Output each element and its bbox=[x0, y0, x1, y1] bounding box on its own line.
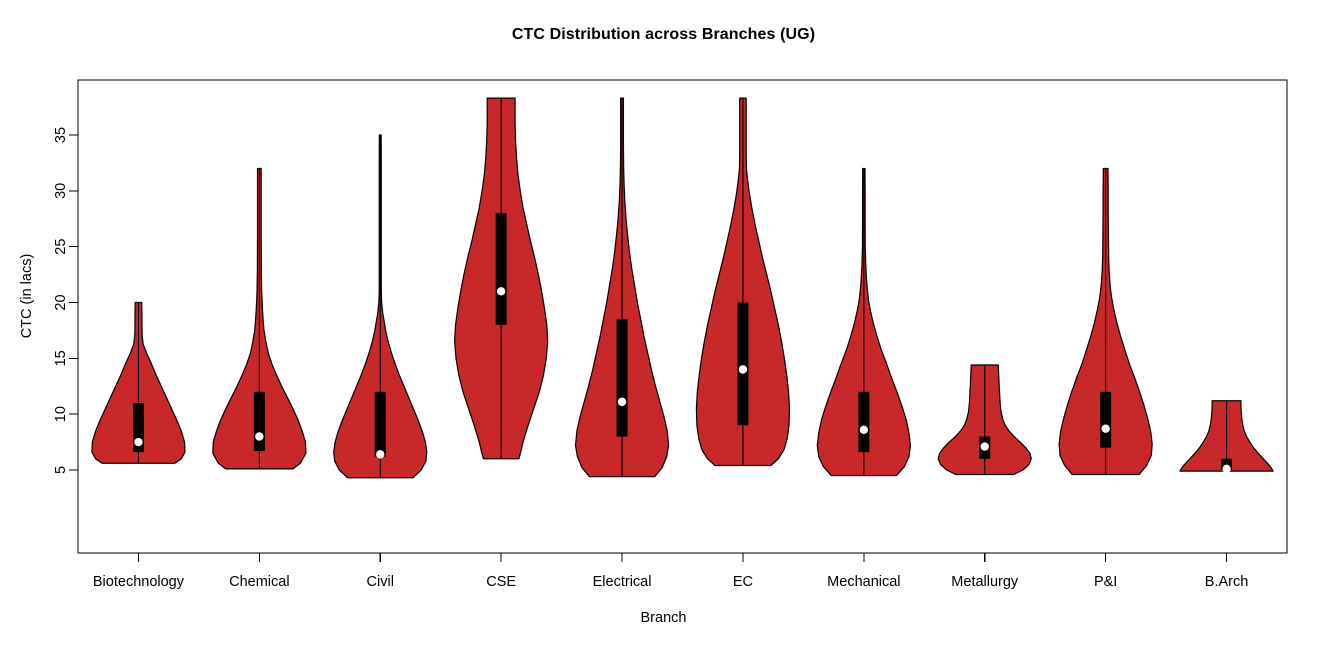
violin-median-marker bbox=[1222, 465, 1230, 473]
y-tick-label: 30 bbox=[53, 183, 69, 199]
y-tick-label: 5 bbox=[53, 466, 69, 474]
violin-median-marker bbox=[376, 450, 384, 458]
violin-median-marker bbox=[618, 398, 626, 406]
violin-electrical[interactable] bbox=[576, 98, 669, 477]
x-tick-label-mechanical: Mechanical bbox=[827, 574, 900, 590]
x-tick-label-civil: Civil bbox=[367, 574, 394, 590]
violin-metallurgy[interactable] bbox=[938, 365, 1031, 474]
violin-cse[interactable] bbox=[455, 98, 548, 459]
x-axis: BiotechnologyChemicalCivilCSEElectricalE… bbox=[93, 553, 1248, 590]
violin-civil[interactable] bbox=[334, 135, 427, 478]
violin-median-marker bbox=[1101, 424, 1109, 432]
y-axis: 5101520253035 bbox=[53, 127, 78, 474]
violin-b-arch[interactable] bbox=[1180, 401, 1273, 473]
violin-ec[interactable] bbox=[696, 98, 789, 465]
y-tick-label: 10 bbox=[53, 406, 69, 422]
violin-mechanical[interactable] bbox=[817, 169, 910, 476]
x-tick-label-b-arch: B.Arch bbox=[1205, 574, 1249, 590]
x-tick-label-metallurgy: Metallurgy bbox=[951, 574, 1019, 590]
violins-layer bbox=[92, 98, 1273, 478]
violin-median-marker bbox=[497, 287, 505, 295]
x-tick-label-chemical: Chemical bbox=[229, 574, 289, 590]
x-tick-label-biotechnology: Biotechnology bbox=[93, 574, 185, 590]
violin-median-marker bbox=[860, 426, 868, 434]
violin-p-i[interactable] bbox=[1059, 169, 1152, 475]
y-tick-label: 25 bbox=[53, 239, 69, 255]
violin-iqr-box bbox=[617, 319, 628, 436]
violin-iqr-box bbox=[1100, 392, 1111, 448]
violin-iqr-box bbox=[858, 392, 869, 452]
y-tick-label: 20 bbox=[53, 294, 69, 310]
x-tick-label-electrical: Electrical bbox=[593, 574, 652, 590]
violin-iqr-box bbox=[254, 392, 265, 451]
x-tick-label-ec: EC bbox=[733, 574, 753, 590]
y-tick-label: 15 bbox=[53, 350, 69, 366]
violin-median-marker bbox=[134, 438, 142, 446]
violin-median-marker bbox=[255, 432, 263, 440]
violin-median-marker bbox=[981, 442, 989, 450]
violin-biotechnology[interactable] bbox=[92, 303, 185, 464]
violin-iqr-box bbox=[496, 213, 507, 325]
violin-chemical[interactable] bbox=[213, 169, 306, 469]
y-tick-label: 35 bbox=[53, 127, 69, 143]
violin-iqr-box bbox=[737, 303, 748, 426]
x-tick-label-p-i: P&I bbox=[1094, 574, 1117, 590]
violin-iqr-box bbox=[375, 392, 386, 457]
x-tick-label-cse: CSE bbox=[486, 574, 516, 590]
violin-plot-figure: CTC Distribution across Branches (UG) CT… bbox=[0, 0, 1327, 653]
violin-median-marker bbox=[739, 365, 747, 373]
violin-chart-canvas: 5101520253035 BiotechnologyChemicalCivil… bbox=[0, 0, 1327, 653]
